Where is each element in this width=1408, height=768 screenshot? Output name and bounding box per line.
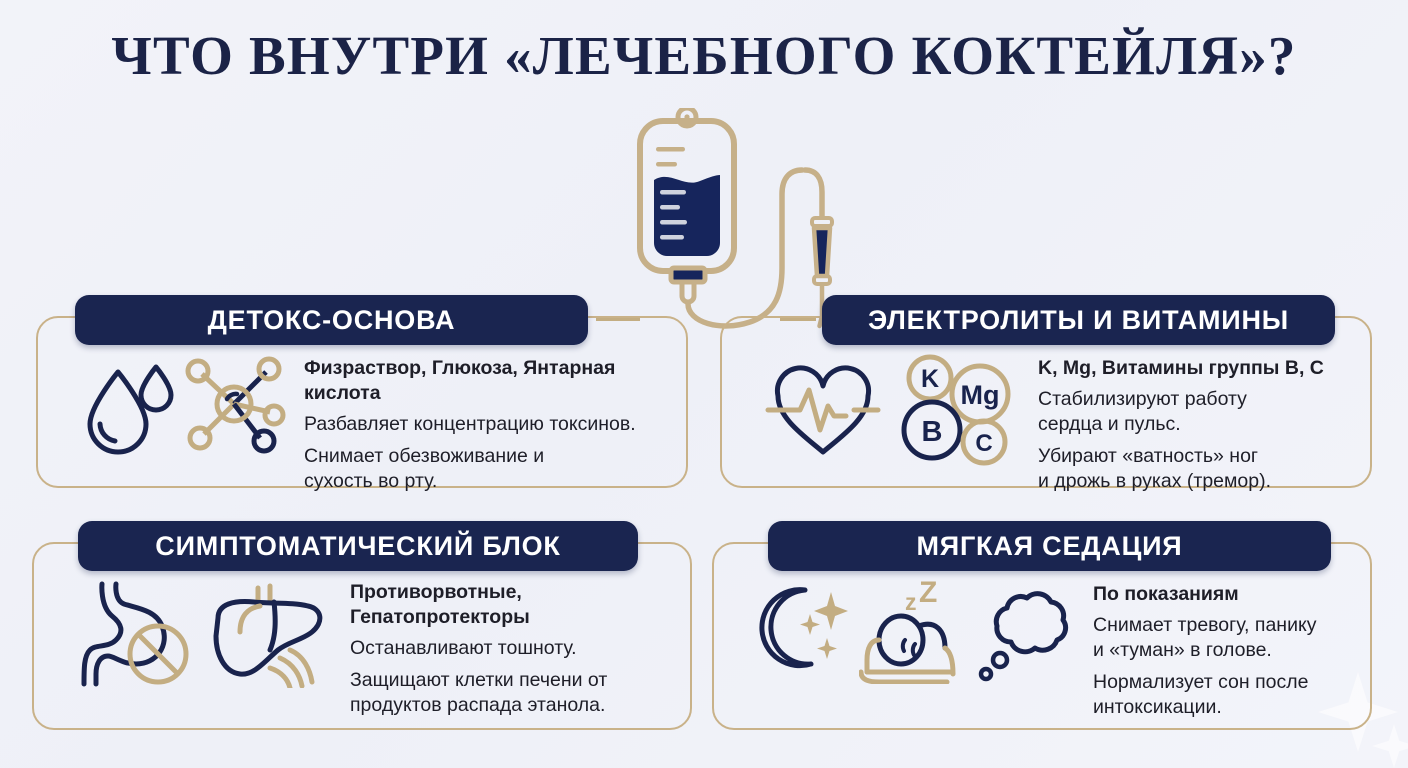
card-symptomatic-lead-2: Гепатопротекторы (350, 605, 607, 630)
vitamin-circles-icon: K Mg B C (898, 352, 1016, 468)
card-sedation-text: По показаниям Снимает тревогу, панику и … (1093, 578, 1316, 720)
card-electrolytes-badge: ЭЛЕКТРОЛИТЫ И ВИТАМИНЫ (822, 295, 1335, 345)
card-sedation-badge: МЯГКАЯ СЕДАЦИЯ (768, 521, 1331, 571)
card-detox-icons (80, 352, 286, 456)
page-title: ЧТО ВНУТРИ «ЛЕЧЕБНОГО КОКТЕЙЛЯ»? (0, 24, 1408, 87)
liver-icon (210, 578, 330, 688)
card-electrolytes-icons: K Mg B C (764, 352, 1016, 468)
card-sedation-body: z Z (755, 578, 1375, 720)
card-electrolytes-text: K, Mg, Витамины группы B, C Стабилизирую… (1038, 352, 1324, 494)
sleep-z-large: Z (919, 578, 937, 609)
svg-text:Mg: Mg (961, 380, 1000, 410)
card-electrolytes-line-4: и дрожь в руках (тремор). (1038, 469, 1324, 494)
card-symptomatic-lead-1: Противорвотные, (350, 580, 607, 605)
sleeping-person-icon: z Z (859, 578, 965, 684)
heartbeat-icon (764, 358, 882, 462)
card-symptomatic-line-3: продуктов распада этанола. (350, 693, 607, 718)
card-symptomatic-icons (78, 578, 330, 688)
card-detox-lead: Физраствор, Глюкоза, Янтарная кислота (304, 356, 680, 406)
card-electrolytes-line-2: сердца и пульс. (1038, 412, 1324, 437)
card-electrolytes-line-3: Убирают «ватность» ног (1038, 444, 1324, 469)
decorative-sparkle-small (1372, 724, 1408, 768)
card-detox-line-1: Разбавляет концентрацию токсинов. (304, 412, 680, 437)
card-symptomatic-line-1: Останавливают тошноту. (350, 636, 607, 661)
molecule-icon (182, 352, 286, 456)
card-symptomatic-line-2: Защищают клетки печени от (350, 668, 607, 693)
stomach-no-icon (78, 578, 196, 688)
card-electrolytes-lead: K, Mg, Витамины группы B, C (1038, 356, 1324, 381)
card-electrolytes-body: K Mg B C K, Mg, Витамины группы B, C Ста… (764, 352, 1364, 494)
sleep-z-small: z (905, 589, 917, 615)
card-electrolytes-line-1: Стабилизируют работу (1038, 387, 1324, 412)
card-sedation-icons: z Z (755, 578, 1077, 684)
svg-text:K: K (921, 365, 939, 393)
card-symptomatic-badge: СИМПТОМАТИЧЕСКИЙ БЛОК (78, 521, 638, 571)
water-drop-icon (80, 352, 176, 456)
card-detox-badge: ДЕТОКС-ОСНОВА (75, 295, 588, 345)
card-symptomatic-body: Противорвотные, Гепатопротекторы Останав… (78, 578, 688, 718)
card-sedation-line-4: интоксикации. (1093, 695, 1316, 720)
card-detox-line-3: сухость во рту. (304, 469, 680, 494)
card-sedation-line-1: Снимает тревогу, панику (1093, 613, 1316, 638)
svg-text:B: B (922, 416, 943, 448)
card-symptomatic-text: Противорвотные, Гепатопротекторы Останав… (350, 578, 607, 718)
card-detox-text: Физраствор, Глюкоза, Янтарная кислота Ра… (304, 352, 680, 494)
svg-text:C: C (975, 430, 992, 457)
card-sedation-lead: По показаниям (1093, 582, 1316, 607)
card-sedation-line-2: и «туман» в голове. (1093, 638, 1316, 663)
thought-cloud-icon (973, 578, 1077, 684)
card-detox-line-2: Снимает обезвоживание и (304, 444, 680, 469)
card-sedation-line-3: Нормализует сон после (1093, 670, 1316, 695)
moon-stars-icon (755, 578, 849, 684)
infographic-canvas: ЧТО ВНУТРИ «ЛЕЧЕБНОГО КОКТЕЙЛЯ»? (0, 0, 1408, 768)
card-detox-body: Физраствор, Глюкоза, Янтарная кислота Ра… (80, 352, 680, 494)
